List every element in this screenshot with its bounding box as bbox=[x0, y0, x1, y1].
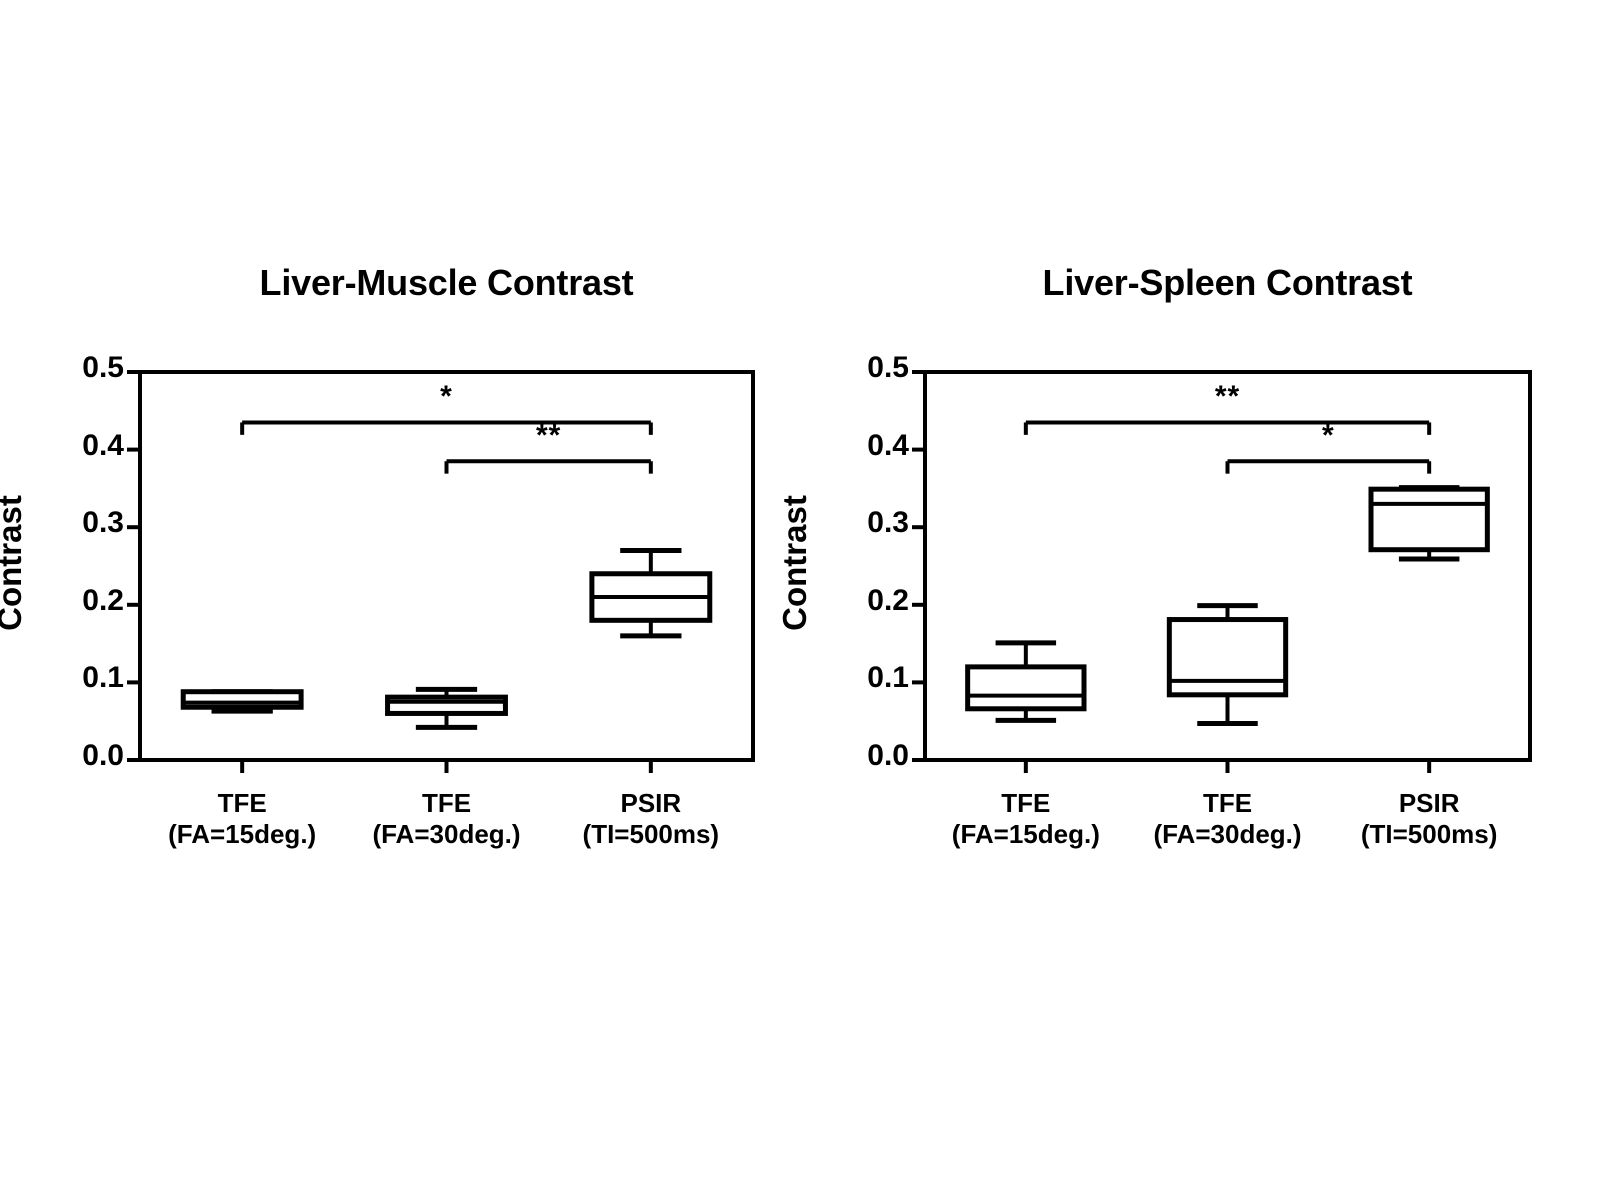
y-tick-label: 0.3 bbox=[805, 506, 909, 540]
chart-title-liver-spleen: Liver-Spleen Contrast bbox=[805, 262, 1600, 304]
figure-canvas: 0.00.10.20.30.40.5TFE(FA=15deg.)TFE(FA=3… bbox=[0, 0, 1600, 1200]
y-tick-label: 0.4 bbox=[805, 429, 909, 463]
y-axis-label-liver-spleen: Contrast bbox=[776, 463, 814, 663]
chart-title-liver-muscle: Liver-Muscle Contrast bbox=[20, 262, 873, 304]
significance-label: ** bbox=[1168, 380, 1288, 414]
y-tick-label: 0.2 bbox=[805, 584, 909, 618]
significance-label: ** bbox=[489, 419, 609, 453]
x-tick-label-line2: (TI=500ms) bbox=[1299, 819, 1559, 850]
y-tick-label: 0.5 bbox=[20, 351, 124, 385]
y-tick-label: 0.3 bbox=[20, 506, 124, 540]
x-tick-label-line2: (TI=500ms) bbox=[521, 819, 781, 850]
significance-label: * bbox=[1268, 419, 1388, 453]
significance-label: * bbox=[387, 380, 507, 414]
y-tick-label: 0.1 bbox=[805, 661, 909, 695]
y-tick-label: 0.0 bbox=[20, 739, 124, 773]
y-tick-label: 0.1 bbox=[20, 661, 124, 695]
x-tick-label-line1: PSIR bbox=[1299, 788, 1559, 819]
y-axis-label-liver-muscle: Contrast bbox=[0, 463, 29, 663]
y-tick-label: 0.2 bbox=[20, 584, 124, 618]
x-tick-label-2: PSIR(TI=500ms) bbox=[1299, 788, 1559, 850]
x-tick-label-2: PSIR(TI=500ms) bbox=[521, 788, 781, 850]
y-tick-label: 0.5 bbox=[805, 351, 909, 385]
x-tick-label-line1: PSIR bbox=[521, 788, 781, 819]
figure-panels: 0.00.10.20.30.40.5TFE(FA=15deg.)TFE(FA=3… bbox=[0, 0, 1600, 1200]
y-tick-label: 0.4 bbox=[20, 429, 124, 463]
y-tick-label: 0.0 bbox=[805, 739, 909, 773]
